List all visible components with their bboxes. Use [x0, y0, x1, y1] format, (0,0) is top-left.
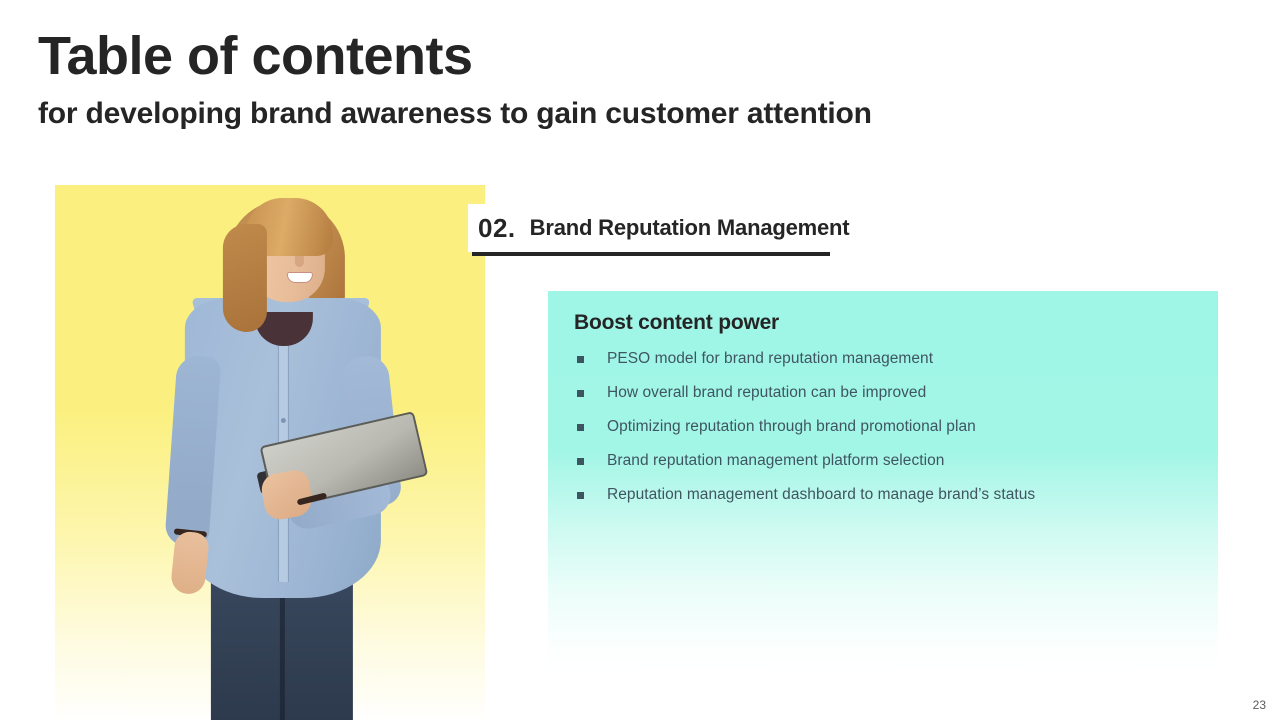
- list-item-label: How overall brand reputation can be impr…: [607, 383, 926, 403]
- hair-side: [223, 224, 267, 332]
- square-bullet-icon: [577, 390, 584, 397]
- person-illustration: [115, 185, 445, 720]
- photo-panel: [55, 185, 485, 720]
- section-label: 02. Brand Reputation Management: [468, 204, 863, 252]
- mouth: [287, 272, 313, 283]
- list-item-label: Reputation management dashboard to manag…: [607, 485, 1035, 505]
- page-subtitle: for developing brand awareness to gain c…: [38, 94, 1138, 134]
- section-number: 02.: [478, 213, 516, 244]
- list-item: PESO model for brand reputation manageme…: [574, 349, 1192, 369]
- hand-left: [170, 530, 210, 595]
- square-bullet-icon: [577, 424, 584, 431]
- section-title: Brand Reputation Management: [530, 215, 850, 241]
- page-title: Table of contents: [38, 26, 1138, 86]
- list-item: Optimizing reputation through brand prom…: [574, 417, 1192, 437]
- header-block: Table of contents for developing brand a…: [38, 26, 1138, 134]
- content-card: Boost content power PESO model for brand…: [548, 291, 1218, 672]
- list-item: Brand reputation management platform sel…: [574, 451, 1192, 471]
- list-item: How overall brand reputation can be impr…: [574, 383, 1192, 403]
- square-bullet-icon: [577, 492, 584, 499]
- slide-canvas: Table of contents for developing brand a…: [0, 0, 1280, 720]
- list-item: Reputation management dashboard to manag…: [574, 485, 1192, 505]
- square-bullet-icon: [577, 458, 584, 465]
- list-item-label: Brand reputation management platform sel…: [607, 451, 944, 471]
- list-item-label: Optimizing reputation through brand prom…: [607, 417, 976, 437]
- card-heading: Boost content power: [574, 311, 1192, 335]
- section-underline: [472, 252, 830, 256]
- bullet-list: PESO model for brand reputation manageme…: [574, 349, 1192, 505]
- nose: [295, 256, 304, 267]
- shirt-button: [281, 418, 286, 423]
- page-number: 23: [1253, 698, 1266, 712]
- list-item-label: PESO model for brand reputation manageme…: [607, 349, 933, 369]
- square-bullet-icon: [577, 356, 584, 363]
